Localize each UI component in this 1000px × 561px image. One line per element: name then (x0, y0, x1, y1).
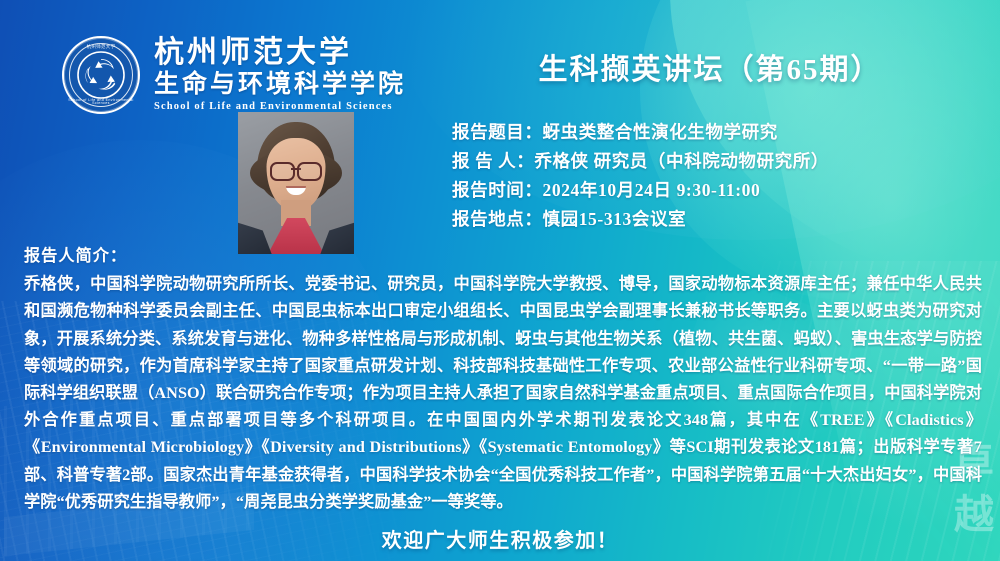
info-label-speaker: 报 告 人： (452, 147, 534, 176)
info-row-speaker: 报 告 人： 乔格侠 研究员（中科院动物研究所） (452, 147, 992, 176)
info-row-topic: 报告题目： 蚜虫类整合性演化生物学研究 (452, 118, 992, 147)
info-value-topic: 蚜虫类整合性演化生物学研究 (543, 118, 778, 147)
glasses-lens-right (297, 162, 322, 181)
info-label-venue: 报告地点： (452, 205, 543, 234)
portrait-glasses-icon (270, 162, 322, 177)
university-emblem-icon: 杭州师范大学 School of Life and Environmental … (62, 36, 140, 114)
poster-title: 生科撷英讲坛（第65期） (430, 46, 990, 88)
info-label-topic: 报告题目： (452, 118, 543, 147)
biography-heading: 报告人简介： (24, 243, 982, 270)
info-value-speaker: 乔格侠 研究员（中科院动物研究所） (534, 147, 829, 176)
college-name-en: School of Life and Environmental Science… (154, 101, 406, 112)
poster-footer-invitation: 欢迎广大师生积极参加！ (0, 524, 1000, 553)
speaker-biography: 报告人简介： 乔格侠，中国科学院动物研究所所长、党委书记、研究员，中国科学院大学… (24, 243, 982, 516)
info-row-venue: 报告地点： 慎园15-313会议室 (452, 205, 992, 234)
emblem-swirl-icon (76, 50, 126, 100)
college-name-cn: 生命与环境科学学院 (154, 72, 406, 97)
poster-canvas: 卓 越 杭州师范大学 School of Life and Environmen… (0, 0, 1000, 561)
lecture-info-block: 报告题目： 蚜虫类整合性演化生物学研究 报 告 人： 乔格侠 研究员（中科院动物… (452, 118, 992, 234)
info-value-time: 2024年10月24日 9:30-11:00 (543, 176, 761, 205)
info-value-venue: 慎园15-313会议室 (543, 205, 687, 234)
info-row-time: 报告时间： 2024年10月24日 9:30-11:00 (452, 176, 992, 205)
emblem-seal-bottom-text: School of Life and Environmental Science… (64, 99, 138, 106)
speaker-portrait-photo (238, 112, 354, 254)
info-label-time: 报告时间： (452, 176, 543, 205)
glasses-lens-left (270, 162, 295, 181)
school-name-block: 杭州师范大学 生命与环境科学学院 School of Life and Envi… (154, 38, 406, 112)
university-name-cn: 杭州师范大学 (154, 38, 406, 68)
biography-body: 乔格侠，中国科学院动物研究所所长、党委书记、研究员，中国科学院大学教授、博导，国… (24, 271, 982, 516)
university-logo-lockup: 杭州师范大学 School of Life and Environmental … (62, 36, 406, 114)
emblem-seal-top-text: 杭州师范大学 (64, 45, 138, 49)
